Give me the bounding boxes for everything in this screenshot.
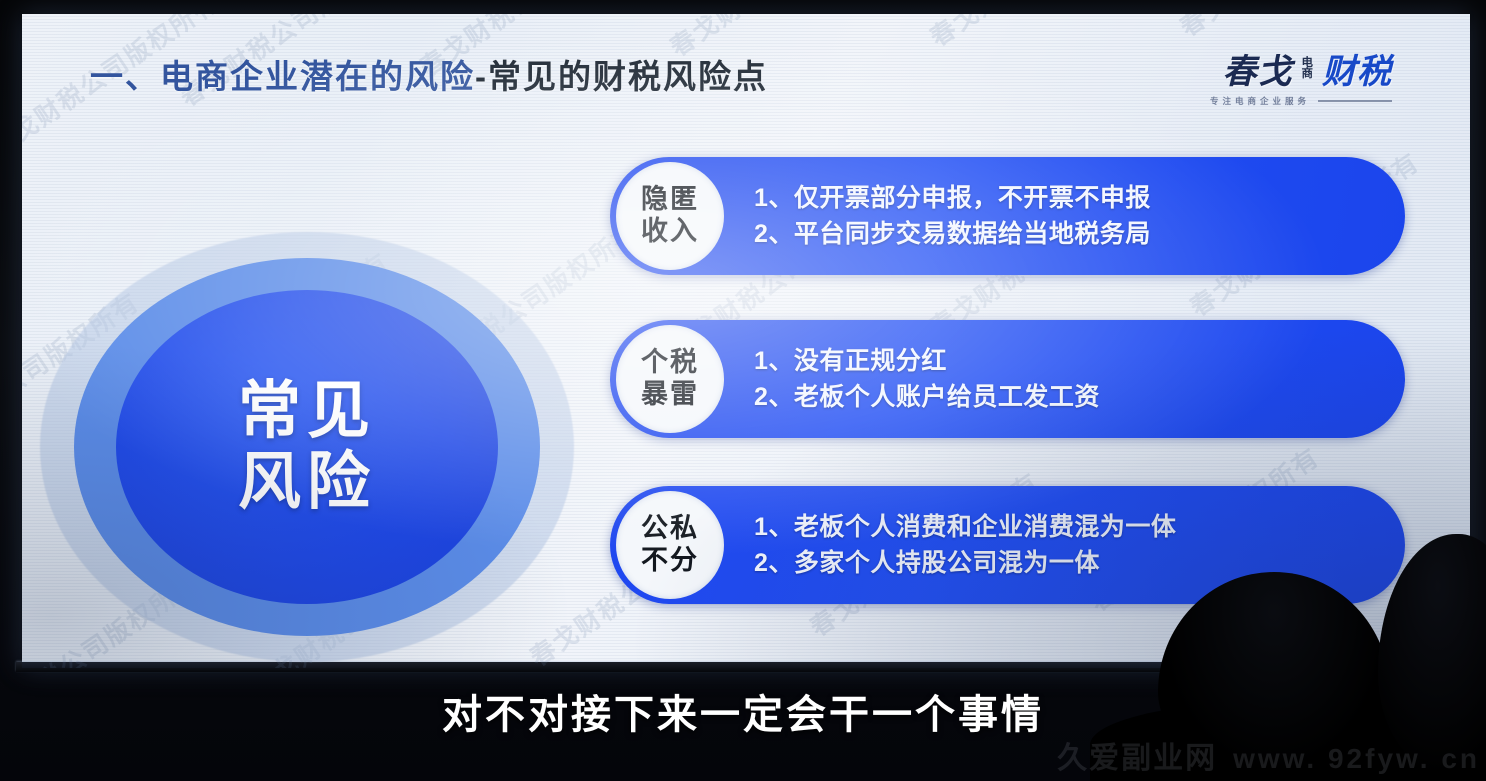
brand-badge-ecommerce: 电 商 bbox=[1300, 57, 1316, 81]
risk-point: 1、仅开票部分申报，不开票不申报 bbox=[754, 180, 1151, 217]
brand-tagline-rule bbox=[1318, 100, 1392, 102]
page-title: 一、电商企业潜在的风险-常见的财税风险点 bbox=[90, 50, 768, 98]
risk-item-hidden-revenue[interactable]: 隐匿 收入 1、仅开票部分申报，不开票不申报 2、平台同步交易数据给当地税务局 bbox=[610, 157, 1405, 275]
page-title-tail: -常见的财税风险点 bbox=[475, 58, 768, 95]
risk-knob-line2: 收入 bbox=[641, 216, 699, 248]
risk-knob-line2: 暴雷 bbox=[641, 379, 699, 411]
brand-tagline: 专注电商企业服务 bbox=[1210, 95, 1310, 107]
projection-screen: 春戈财税公司版权所有 春戈财税公司版权所有 春戈财税公司版权所有 春戈财税公司版… bbox=[22, 14, 1470, 668]
risk-item-knob: 隐匿 收入 bbox=[616, 162, 724, 270]
watermark-text: 春戈财税公司版权所有 bbox=[922, 14, 1166, 54]
brand-logo-row: 春戈 电 商 财税 bbox=[1210, 44, 1392, 93]
risk-item-points: 1、仅开票部分申报，不开票不申报 2、平台同步交易数据给当地税务局 bbox=[754, 180, 1151, 253]
brand-badge-line1: 电 bbox=[1302, 58, 1314, 69]
risk-item-knob: 公私 不分 bbox=[616, 491, 724, 599]
risk-knob-line1: 个税 bbox=[641, 347, 699, 379]
risk-point: 1、老板个人消费和企业消费混为一体 bbox=[754, 509, 1176, 546]
risk-item-personal-income-tax[interactable]: 个税 暴雷 1、没有正规分红 2、老板个人账户给员工发工资 bbox=[610, 320, 1405, 438]
watermark-text: 春戈财税公司版权所有 bbox=[1172, 14, 1416, 44]
subtitle-caption: 对不对接下来一定会干一个事情 bbox=[0, 682, 1486, 740]
risk-item-points: 1、老板个人消费和企业消费混为一体 2、多家个人持股公司混为一体 bbox=[754, 509, 1176, 582]
site-watermark-url: www. 92fyw. cn bbox=[1233, 743, 1480, 775]
page-title-lead: 一、电商企业潜在的风险 bbox=[90, 58, 475, 95]
risk-item-points: 1、没有正规分红 2、老板个人账户给员工发工资 bbox=[754, 343, 1100, 416]
central-risk-circle: 常见 风险 bbox=[40, 232, 580, 668]
brand-tagline-row: 专注电商企业服务 bbox=[1210, 95, 1392, 107]
risk-point: 2、平台同步交易数据给当地税务局 bbox=[754, 216, 1151, 253]
risk-item-knob: 个税 暴雷 bbox=[616, 325, 724, 433]
brand-name-secondary: 财税 bbox=[1322, 44, 1392, 93]
central-circle-line2: 风险 bbox=[238, 447, 376, 518]
site-watermark-name: 久爱副业网 bbox=[1057, 733, 1217, 777]
site-watermark: 久爱副业网 www. 92fyw. cn bbox=[1057, 733, 1480, 777]
brand-badge-line2: 商 bbox=[1302, 69, 1314, 80]
central-circle-label: 常见 风险 bbox=[116, 290, 498, 604]
risk-knob-line2: 不分 bbox=[641, 545, 699, 577]
video-frame: 春戈财税公司版权所有 春戈财税公司版权所有 春戈财税公司版权所有 春戈财税公司版… bbox=[0, 0, 1486, 781]
brand-name-primary: 春戈 bbox=[1223, 44, 1293, 93]
risk-knob-line1: 隐匿 bbox=[641, 184, 699, 216]
brand-logo: 春戈 电 商 财税 专注电商企业服务 bbox=[1210, 44, 1392, 107]
risk-point: 2、多家个人持股公司混为一体 bbox=[754, 545, 1176, 582]
risk-point: 1、没有正规分红 bbox=[754, 343, 1100, 380]
risk-knob-line1: 公私 bbox=[641, 513, 699, 545]
risk-point: 2、老板个人账户给员工发工资 bbox=[754, 379, 1100, 416]
central-circle-line1: 常见 bbox=[238, 376, 376, 447]
